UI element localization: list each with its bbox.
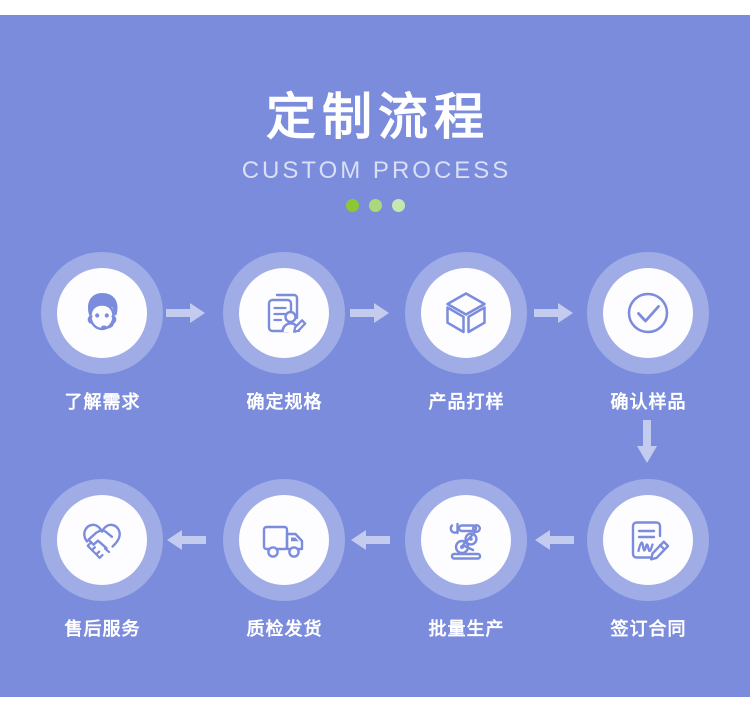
delivery-truck-icon bbox=[256, 512, 312, 568]
step-7-label: 质检发货 bbox=[246, 615, 323, 641]
step-3-circle-inner bbox=[421, 268, 511, 358]
step-1-circle bbox=[41, 252, 163, 374]
step-4-circle-inner bbox=[603, 268, 693, 358]
step-8-circle bbox=[41, 479, 163, 601]
robot-arm-icon bbox=[438, 512, 494, 568]
step-2-circle bbox=[223, 252, 345, 374]
step-7[interactable]: 质检发货 bbox=[210, 479, 358, 641]
contract-signing-icon bbox=[620, 512, 676, 568]
step-3[interactable]: 产品打样 bbox=[392, 252, 540, 414]
step-1-label: 了解需求 bbox=[64, 388, 141, 414]
page-title-cn: 定制流程 bbox=[0, 90, 750, 145]
step-4[interactable]: 确认样品 bbox=[574, 252, 722, 414]
dot-2-icon bbox=[369, 199, 382, 212]
arrow-right-1-icon bbox=[166, 300, 206, 326]
dot-3-icon bbox=[392, 199, 405, 212]
process-flow: 了解需求 bbox=[0, 252, 750, 641]
custom-process-infographic: 定制流程 CUSTOM PROCESS bbox=[0, 0, 750, 714]
customer-service-agent-icon bbox=[74, 285, 130, 341]
step-5[interactable]: 签订合同 bbox=[574, 479, 722, 641]
decorative-dots bbox=[0, 199, 750, 212]
arrow-left-2-icon bbox=[350, 527, 390, 553]
page-subtitle-en: CUSTOM PROCESS bbox=[0, 157, 750, 185]
step-6-circle bbox=[405, 479, 527, 601]
cube-sample-icon bbox=[438, 285, 494, 341]
arrow-left-1-icon bbox=[166, 527, 206, 553]
arrow-left-3-icon bbox=[534, 527, 574, 553]
step-8-label: 售后服务 bbox=[64, 615, 141, 641]
document-specification-icon bbox=[256, 285, 312, 341]
step-4-label: 确认样品 bbox=[610, 388, 687, 414]
step-7-circle bbox=[223, 479, 345, 601]
arrow-right-2-icon bbox=[350, 300, 390, 326]
step-6-circle-inner bbox=[421, 495, 511, 585]
arrow-right-3-icon bbox=[534, 300, 574, 326]
step-1[interactable]: 了解需求 bbox=[28, 252, 176, 414]
step-6-label: 批量生产 bbox=[428, 615, 505, 641]
step-5-circle-inner bbox=[603, 495, 693, 585]
process-row-top: 了解需求 bbox=[0, 252, 750, 414]
step-2-circle-inner bbox=[239, 268, 329, 358]
step-2-label: 确定规格 bbox=[246, 388, 323, 414]
step-8[interactable]: 售后服务 bbox=[28, 479, 176, 641]
dot-1-icon bbox=[346, 199, 359, 212]
check-circle-icon bbox=[620, 285, 676, 341]
header: 定制流程 CUSTOM PROCESS bbox=[0, 90, 750, 212]
step-7-circle-inner bbox=[239, 495, 329, 585]
step-3-label: 产品打样 bbox=[428, 388, 505, 414]
step-4-circle bbox=[587, 252, 709, 374]
step-8-circle-inner bbox=[57, 495, 147, 585]
step-6[interactable]: 批量生产 bbox=[392, 479, 540, 641]
arrow-down-connector-icon bbox=[634, 420, 660, 464]
step-1-circle-inner bbox=[57, 268, 147, 358]
handshake-heart-icon bbox=[74, 512, 130, 568]
step-2[interactable]: 确定规格 bbox=[210, 252, 358, 414]
process-row-bottom: 售后服务 质检发货 bbox=[0, 479, 750, 641]
step-5-label: 签订合同 bbox=[610, 615, 687, 641]
step-3-circle bbox=[405, 252, 527, 374]
step-5-circle bbox=[587, 479, 709, 601]
